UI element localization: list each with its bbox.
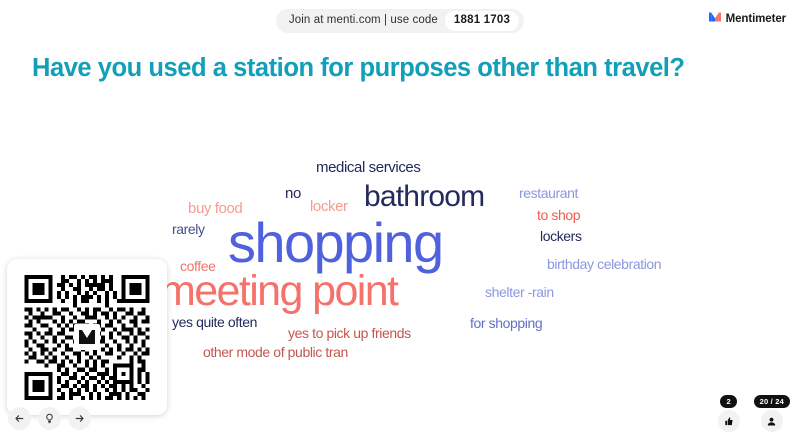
mentimeter-brand: Mentimeter xyxy=(709,10,786,28)
thumbs-up-icon xyxy=(723,416,734,427)
cloud-word[interactable]: shelter -rain xyxy=(485,285,554,299)
person-icon xyxy=(766,416,777,427)
participants-control[interactable]: 20 / 24 xyxy=(754,395,790,433)
cloud-word[interactable]: medical services xyxy=(316,160,420,175)
cloud-word[interactable]: rarely xyxy=(172,222,205,236)
cloud-word[interactable]: other mode of public tran xyxy=(203,345,348,359)
mentimeter-brand-name: Mentimeter xyxy=(726,13,786,25)
cloud-word[interactable]: to shop xyxy=(537,208,580,222)
cloud-word[interactable]: buy food xyxy=(188,201,242,216)
page-title: Have you used a station for purposes oth… xyxy=(32,54,685,82)
join-code-value: 1881 1703 xyxy=(445,11,519,31)
cloud-word[interactable]: meeting point xyxy=(160,270,397,313)
thumbs-up-button[interactable] xyxy=(718,410,740,432)
cloud-word[interactable]: for shopping xyxy=(470,316,542,330)
cloud-word[interactable]: yes quite often xyxy=(172,315,257,329)
lightbulb-icon xyxy=(44,413,55,424)
forward-arrow-button[interactable] xyxy=(68,407,91,430)
navigation-toolbar xyxy=(8,407,91,430)
qr-code-card[interactable] xyxy=(7,259,167,415)
join-instruction-text: Join at menti.com | use code xyxy=(289,15,438,27)
cloud-word[interactable]: lockers xyxy=(540,229,582,243)
cloud-word[interactable]: yes to pick up friends xyxy=(288,326,411,340)
participants-count-badge: 20 / 24 xyxy=(754,395,790,409)
reactions-count-badge: 2 xyxy=(720,395,736,409)
audience-toolbar: 2 20 / 24 xyxy=(718,395,790,433)
cloud-word[interactable]: birthday celebration xyxy=(547,257,661,271)
join-instruction-pill: Join at menti.com | use code 1881 1703 xyxy=(276,9,524,33)
cloud-word[interactable]: no xyxy=(285,186,301,201)
mentimeter-m-logo-icon xyxy=(709,10,721,28)
cloud-word[interactable]: locker xyxy=(310,199,348,214)
participants-button[interactable] xyxy=(761,410,783,432)
cloud-word[interactable]: restaurant xyxy=(519,186,578,200)
cloud-word[interactable]: coffee xyxy=(180,259,216,273)
forward-arrow-icon xyxy=(74,413,85,424)
hint-lightbulb-button[interactable] xyxy=(38,407,61,430)
qr-center-logo-icon xyxy=(74,324,100,350)
back-arrow-button[interactable] xyxy=(8,407,31,430)
back-arrow-icon xyxy=(14,413,25,424)
presentation-stage: Join at menti.com | use code 1881 1703 M… xyxy=(0,0,800,437)
cloud-word[interactable]: bathroom xyxy=(364,182,484,212)
cloud-word[interactable]: shopping xyxy=(228,215,443,271)
qr-code-image xyxy=(19,271,155,404)
reactions-control[interactable]: 2 xyxy=(718,395,740,433)
